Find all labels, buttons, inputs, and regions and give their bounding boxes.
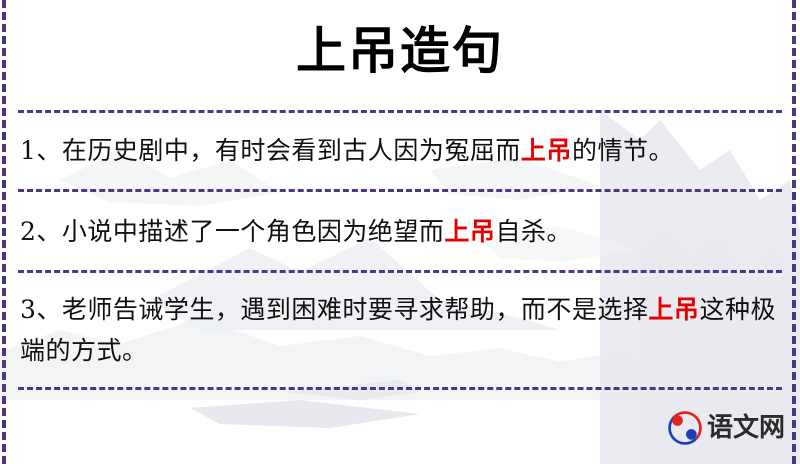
sentence-row-2: 2、小说中描述了一个角色因为绝望而上吊自杀。: [20, 211, 782, 252]
sentence-1-before: 在历史剧中，有时会看到古人因为冤屈而: [62, 136, 521, 165]
sentence-1-after: 的情节。: [572, 136, 674, 165]
worksheet-page: 上吊造句 1、在历史剧中，有时会看到古人因为冤屈而上吊的情节。 2、小说中描述了…: [0, 0, 800, 464]
sentence-3-before: 老师告诫学生，遇到困难时要寻求帮助，而不是选择: [62, 295, 649, 324]
sentence-3-keyword: 上吊: [648, 295, 699, 324]
taiji-yin-yang-icon: [668, 411, 702, 445]
border-rail-left: [2, 0, 6, 464]
sentence-row-1: 1、在历史剧中，有时会看到古人因为冤屈而上吊的情节。: [20, 130, 782, 171]
sentence-1-keyword: 上吊: [521, 136, 572, 165]
sentence-2-after: 自杀。: [495, 217, 572, 246]
border-rail-right: [792, 0, 796, 464]
sentence-1-index: 1、: [20, 136, 62, 165]
sentence-row-3: 3、老师告诫学生，遇到困难时要寻求帮助，而不是选择上吊这种极端的方式。: [20, 289, 782, 371]
sentence-2-index: 2、: [20, 217, 62, 246]
sentence-3-index: 3、: [20, 295, 62, 324]
site-logo[interactable]: 语文网: [668, 411, 785, 445]
site-logo-text: 语文网: [707, 413, 785, 443]
divider-1: [18, 110, 782, 113]
divider-2: [18, 189, 782, 192]
sentence-2-before: 小说中描述了一个角色因为绝望而: [62, 217, 445, 246]
divider-3: [18, 270, 782, 273]
sentence-2-keyword: 上吊: [444, 217, 495, 246]
divider-4: [18, 387, 782, 390]
page-title: 上吊造句: [0, 22, 800, 80]
